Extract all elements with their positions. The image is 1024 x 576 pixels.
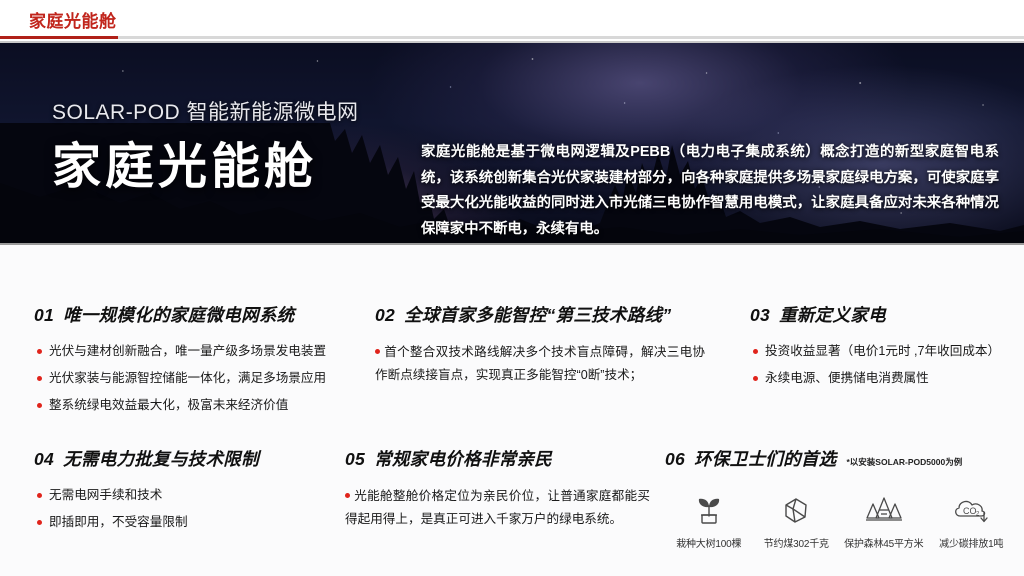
feature-heading-02: 02 全球首家多能智控“第三技术路线”	[375, 302, 705, 327]
feature-block-03: 03 重新定义家电 投资收益显著（电价1元时 ,7年收回成本） 永续电源、便携储…	[750, 302, 1005, 395]
feature-bullet-list-03: 投资收益显著（电价1元时 ,7年收回成本） 永续电源、便携储电消费属性	[750, 341, 1005, 389]
feature-paragraph-text-02: 首个整合双技术路线解决多个技术盲点障碍，解决三电协作断点续接盲点，实现真正多能智…	[375, 345, 705, 382]
slide-page: 家庭光能舱 SOLAR-POD 智能新能源微电网 家庭光能舱 家庭光能舱是基于微…	[0, 0, 1024, 576]
header-divider-rule	[0, 36, 1024, 39]
feature-paragraph-text-05: 光能舱整舱价格定位为亲民价位，让普通家庭都能买得起用得上，是真正可进入千家万户的…	[345, 489, 650, 526]
list-item: 投资收益显著（电价1元时 ,7年收回成本）	[750, 341, 1005, 362]
list-item-text: 光伏与建材创新融合，唯一量产级多场景发电装置	[49, 341, 326, 362]
hero-subtitle: SOLAR-POD 智能新能源微电网	[52, 96, 412, 126]
feature-block-05: 05 常规家电价格非常亲民 光能舱整舱价格定位为亲民价位，让普通家庭都能买得起用…	[345, 446, 650, 531]
feature-paragraph-wrap-02: 首个整合双技术路线解决多个技术盲点障碍，解决三电协作断点续接盲点，实现真正多能智…	[375, 341, 705, 387]
list-item-text: 整系统绿电效益最大化，极富未来经济价值	[49, 395, 288, 416]
hero-right-text-group: 家庭光能舱是基于微电网逻辑及PEBB（电力电子集成系统）概念打造的新型家庭智电系…	[421, 140, 999, 242]
list-item: 无需电网手续和技术	[34, 485, 344, 506]
feature-heading-04: 04 无需电力批复与技术限制	[34, 446, 344, 471]
features-area: 01 唯一规模化的家庭微电网系统 光伏与建材创新融合，唯一量产级多场景发电装置 …	[0, 245, 1024, 576]
top-header-bar: 家庭光能舱	[0, 0, 1024, 42]
feature-paragraph-05: 光能舱整舱价格定位为亲民价位，让普通家庭都能买得起用得上，是真正可进入千家万户的…	[345, 485, 650, 531]
eco-benefits-row: 栽种大树100棵 节约煤302千克	[665, 493, 1015, 550]
eco-label-co2: 减少碳排放1吨	[928, 535, 1016, 550]
feature-number-01: 01	[34, 305, 54, 326]
eco-label-forest: 保护森林45平方米	[840, 535, 928, 550]
bullet-dot-icon	[753, 349, 758, 354]
feature-heading-05: 05 常规家电价格非常亲民	[345, 446, 650, 471]
bullet-dot-icon	[375, 349, 380, 354]
bullet-dot-icon	[37, 493, 42, 498]
bullet-dot-icon	[37, 403, 42, 408]
feature-title-02: 全球首家多能智控“第三技术路线”	[404, 302, 671, 327]
feature-title-06: 环保卫士们的首选	[694, 446, 836, 471]
feature-bullet-list-01: 光伏与建材创新融合，唯一量产级多场景发电装置 光伏家装与能源智控储能一体化，满足…	[34, 341, 364, 416]
list-item: 光伏家装与能源智控储能一体化，满足多场景应用	[34, 368, 364, 389]
hero-banner: SOLAR-POD 智能新能源微电网 家庭光能舱 家庭光能舱是基于微电网逻辑及P…	[0, 41, 1024, 245]
feature-number-04: 04	[34, 449, 54, 470]
list-item: 光伏与建材创新融合，唯一量产级多场景发电装置	[34, 341, 364, 362]
feature-block-02: 02 全球首家多能智控“第三技术路线” 首个整合双技术路线解决多个技术盲点障碍，…	[375, 302, 705, 387]
feature-number-06: 06	[665, 449, 685, 470]
feature-block-01: 01 唯一规模化的家庭微电网系统 光伏与建材创新融合，唯一量产级多场景发电装置 …	[34, 302, 364, 422]
feature-bullet-list-04: 无需电网手续和技术 即插即用，不受容量限制	[34, 485, 344, 533]
co2-cloud-icon: CO 2	[928, 493, 1016, 527]
feature-title-04: 无需电力批复与技术限制	[63, 446, 259, 471]
feature-title-01: 唯一规模化的家庭微电网系统	[63, 302, 294, 327]
feature-block-06: 06 环保卫士们的首选 *以安装SOLAR-POD5000为例	[665, 446, 1015, 550]
feature-title-03: 重新定义家电	[779, 302, 886, 327]
bullet-dot-icon	[753, 376, 758, 381]
hero-title: 家庭光能舱	[52, 138, 412, 196]
feature-title-05: 常规家电价格非常亲民	[374, 446, 552, 471]
feature-paragraph-02: 首个整合双技术路线解决多个技术盲点障碍，解决三电协作断点续接盲点，实现真正多能智…	[375, 341, 705, 387]
feature-number-02: 02	[375, 305, 395, 326]
svg-text:CO: CO	[963, 506, 977, 516]
forest-icon	[840, 493, 928, 527]
list-item: 即插即用，不受容量限制	[34, 512, 344, 533]
sapling-icon	[665, 493, 753, 527]
list-item-text: 投资收益显著（电价1元时 ,7年收回成本）	[765, 341, 1000, 362]
feature-block-04: 04 无需电力批复与技术限制 无需电网手续和技术 即插即用，不受容量限制	[34, 446, 344, 539]
eco-item-sapling: 栽种大树100棵	[665, 493, 753, 550]
hero-left-text-group: SOLAR-POD 智能新能源微电网 家庭光能舱	[52, 96, 412, 196]
eco-label-coal: 节约煤302千克	[753, 535, 841, 550]
eco-label-sapling: 栽种大树100棵	[665, 535, 753, 550]
coal-lump-icon	[753, 493, 841, 527]
feature-paragraph-wrap-05: 光能舱整舱价格定位为亲民价位，让普通家庭都能买得起用得上，是真正可进入千家万户的…	[345, 485, 650, 531]
list-item: 整系统绿电效益最大化，极富未来经济价值	[34, 395, 364, 416]
bullet-dot-icon	[37, 520, 42, 525]
list-item: 永续电源、便携储电消费属性	[750, 368, 1005, 389]
list-item-text: 光伏家装与能源智控储能一体化，满足多场景应用	[49, 368, 326, 389]
bullet-dot-icon	[37, 349, 42, 354]
bullet-dot-icon	[37, 376, 42, 381]
eco-item-co2: CO 2 减少碳排放1吨	[928, 493, 1016, 550]
feature-heading-01: 01 唯一规模化的家庭微电网系统	[34, 302, 364, 327]
feature-heading-03: 03 重新定义家电	[750, 302, 1005, 327]
feature-number-03: 03	[750, 305, 770, 326]
feature-heading-06: 06 环保卫士们的首选 *以安装SOLAR-POD5000为例	[665, 446, 1015, 471]
feature-number-05: 05	[345, 449, 365, 470]
list-item-text: 永续电源、便携储电消费属性	[765, 368, 929, 389]
hero-description: 家庭光能舱是基于微电网逻辑及PEBB（电力电子集成系统）概念打造的新型家庭智电系…	[421, 140, 999, 242]
page-title: 家庭光能舱	[29, 12, 117, 32]
bullet-dot-icon	[345, 493, 350, 498]
feature-footnote-06: *以安装SOLAR-POD5000为例	[846, 456, 962, 468]
list-item-text: 即插即用，不受容量限制	[49, 512, 188, 533]
eco-item-coal: 节约煤302千克	[753, 493, 841, 550]
list-item-text: 无需电网手续和技术	[49, 485, 162, 506]
eco-item-forest: 保护森林45平方米	[840, 493, 928, 550]
